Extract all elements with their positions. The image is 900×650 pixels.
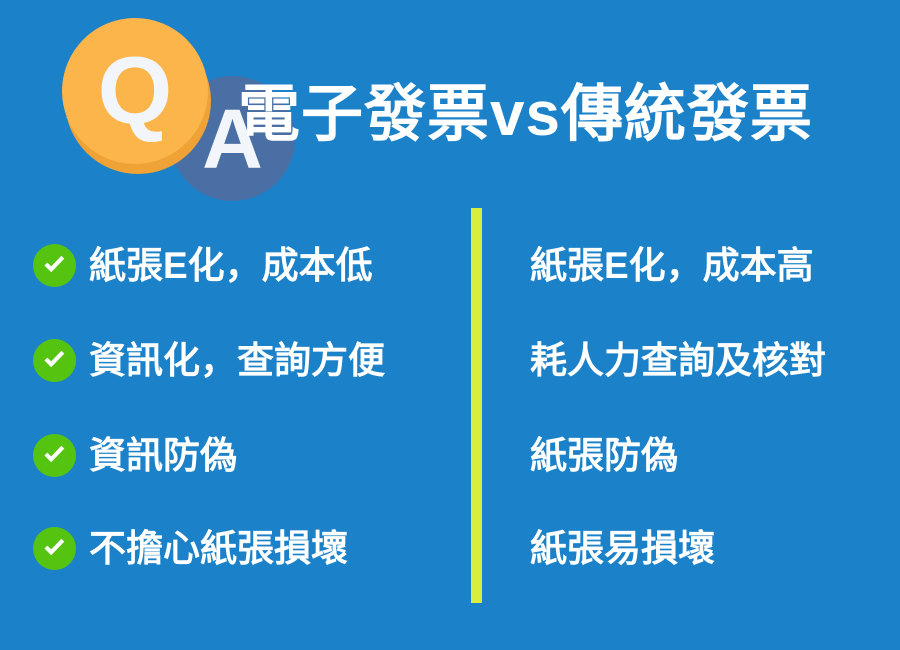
list-item-label: 紙張易損壞 xyxy=(530,530,715,567)
electronic-invoice-column: 紙張E化，成本低 資訊化，查詢方便 資訊防偽 xyxy=(0,200,471,650)
list-item-label: 不擔心紙張損壞 xyxy=(89,530,348,567)
list-item-label: 耗人力查詢及核對 xyxy=(530,342,826,379)
list-item: 耗人力查詢及核對 xyxy=(482,332,900,388)
list-item: 紙張防偽 xyxy=(482,427,900,483)
list-item: 資訊防偽 xyxy=(0,427,471,483)
comparison-section: 紙張E化，成本低 資訊化，查詢方便 資訊防偽 xyxy=(0,200,900,650)
traditional-invoice-column: 紙張E化，成本高 耗人力查詢及核對 紙張防偽 紙張易損壞 xyxy=(482,200,900,650)
list-item-label: 紙張E化，成本高 xyxy=(530,247,814,284)
list-item: 紙張易損壞 xyxy=(482,520,900,576)
list-item: 不擔心紙張損壞 xyxy=(0,520,471,576)
column-divider xyxy=(471,208,482,603)
question-speech-bubble-icon: Q xyxy=(62,18,214,170)
list-item: 資訊化，查詢方便 xyxy=(0,332,471,388)
list-item: 紙張E化，成本低 xyxy=(0,237,471,293)
header: A Q 電子發票vs傳統發票 xyxy=(0,0,900,200)
page-title: 電子發票vs傳統發票 xyxy=(238,84,813,146)
question-bubble-letter: Q xyxy=(62,18,208,164)
list-item-label: 紙張E化，成本低 xyxy=(89,247,373,284)
list-item-label: 資訊防偽 xyxy=(89,437,237,474)
infographic-root: A Q 電子發票vs傳統發票 紙張E化，成本低 xyxy=(0,0,900,650)
check-circle-icon xyxy=(33,244,76,287)
list-item: 紙張E化，成本高 xyxy=(482,237,900,293)
check-circle-icon xyxy=(33,434,76,477)
check-circle-icon xyxy=(33,527,76,570)
list-item-label: 資訊化，查詢方便 xyxy=(89,342,385,379)
list-item-label: 紙張防偽 xyxy=(530,437,678,474)
check-circle-icon xyxy=(33,339,76,382)
